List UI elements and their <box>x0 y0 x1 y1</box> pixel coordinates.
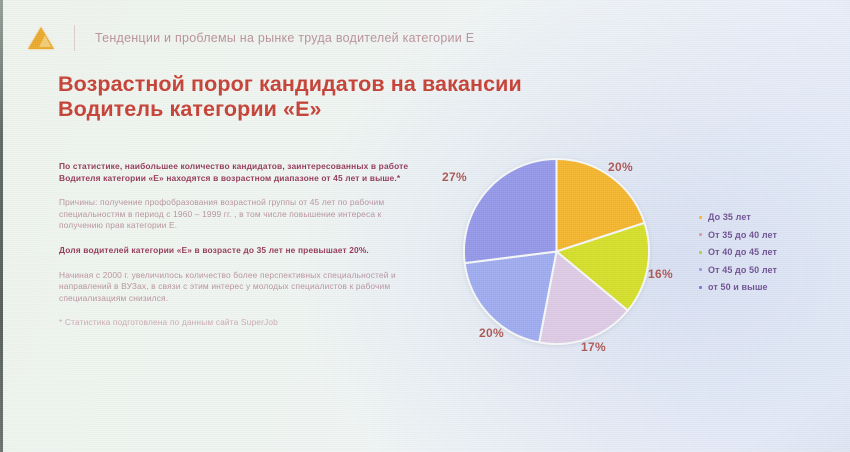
page-title: Возрастной порог кандидатов на вакансии … <box>58 72 618 122</box>
pie-chart: 20% 16% 17% 20% 27% <box>440 140 690 370</box>
slide-header: Тенденции и проблемы на рынке труда води… <box>26 24 474 52</box>
header-subtitle: Тенденции и проблемы на рынке труда води… <box>95 31 474 45</box>
legend-label-1: От 35 до 40 лет <box>708 230 777 240</box>
legend-item-0: До 35 лет <box>699 212 777 222</box>
chart-legend: До 35 лет От 35 до 40 лет От 40 до 45 ле… <box>699 212 777 292</box>
legend-item-4: от 50 и выше <box>699 282 777 292</box>
presentation-slide: Тенденции и проблемы на рынке труда води… <box>0 0 850 452</box>
pie-label-40-45: 17% <box>581 340 606 354</box>
legend-label-3: От 45 до 50 лет <box>708 265 777 275</box>
legend-bullet-icon <box>699 251 702 254</box>
legend-label-4: от 50 и выше <box>708 282 768 292</box>
pie-slice-4 <box>464 159 557 263</box>
page-title-line-2: Водитель категории «Е» <box>58 97 618 122</box>
pie-label-45-50: 20% <box>479 326 504 340</box>
screen-left-edge <box>0 0 3 452</box>
paragraph-share: Доля водителей категории «Е» в возрасте … <box>59 245 419 257</box>
legend-bullet-icon <box>699 216 702 219</box>
pie-label-50-plus: 27% <box>442 170 467 184</box>
page-title-line-1: Возрастной порог кандидатов на вакансии <box>58 72 618 97</box>
body-text-block: По статистике, наибольшее количество кан… <box>59 161 419 342</box>
legend-bullet-icon <box>699 233 702 236</box>
paragraph-reasons: Причины: получение профобразования возра… <box>59 197 419 232</box>
legend-bullet-icon <box>699 268 702 271</box>
paragraph-statistics: По статистике, наибольшее количество кан… <box>59 161 419 184</box>
legend-item-1: От 35 до 40 лет <box>699 230 777 240</box>
paragraph-since-2000: Начиная с 2000 г. увеличилось количество… <box>59 270 419 305</box>
header-divider <box>74 25 75 51</box>
legend-item-3: От 45 до 50 лет <box>699 265 777 275</box>
source-footnote: * Статистика подготовлена по данным сайт… <box>59 317 419 329</box>
pie-label-up-to-35: 20% <box>608 160 633 174</box>
legend-label-0: До 35 лет <box>708 212 751 222</box>
pie-chart-graphic <box>463 158 650 345</box>
legend-label-2: От 40 до 45 лет <box>708 247 777 257</box>
pie-label-35-40: 16% <box>648 267 673 281</box>
orange-triangle-logo-icon <box>26 24 56 52</box>
legend-item-2: От 40 до 45 лет <box>699 247 777 257</box>
pie-slices <box>463 158 650 345</box>
legend-bullet-icon <box>699 286 702 289</box>
